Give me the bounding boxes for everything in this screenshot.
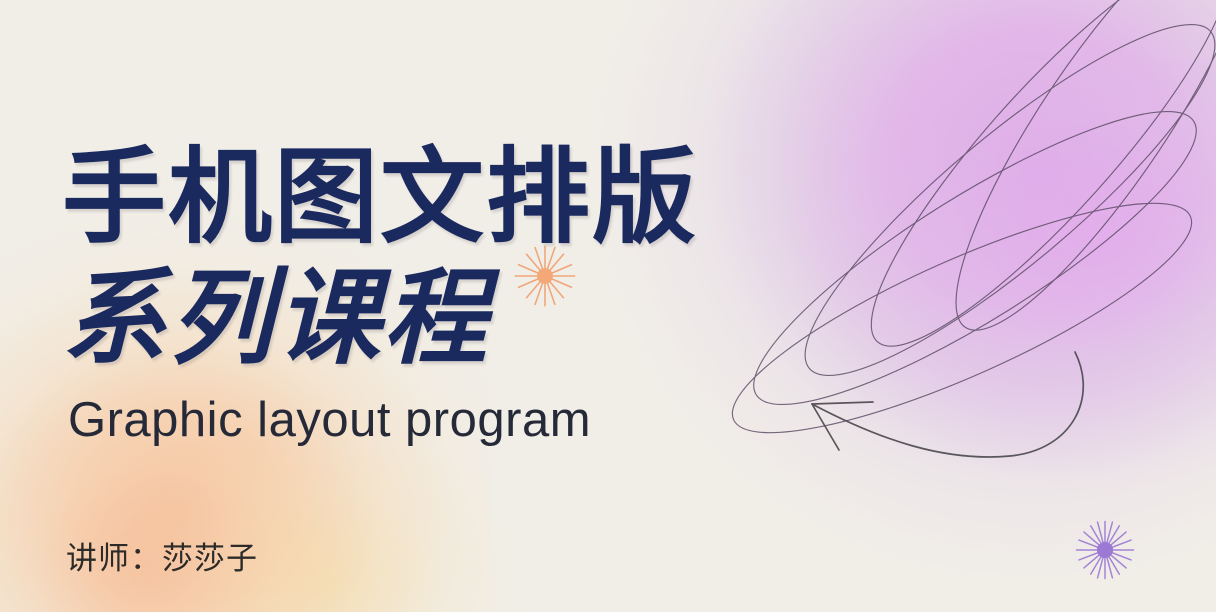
poster-subtitle: Graphic layout program [68,392,762,448]
headline-line-2: 系列课程 [62,267,762,370]
headline-line-1: 手机图文排版 [62,136,698,258]
curved-arrow-icon [812,352,1083,457]
purple-starburst-icon [1074,519,1136,581]
course-poster: 手机图文排版 系列课程 Graphic layout program 讲师：莎莎… [0,0,1216,612]
poster-text-block: 手机图文排版 系列课程 Graphic layout program [62,146,762,448]
page-title: 手机图文排版 系列课程 [62,146,762,370]
instructor-label: 讲师：莎莎子 [66,533,258,578]
ellipse-ribbons [710,0,1216,473]
